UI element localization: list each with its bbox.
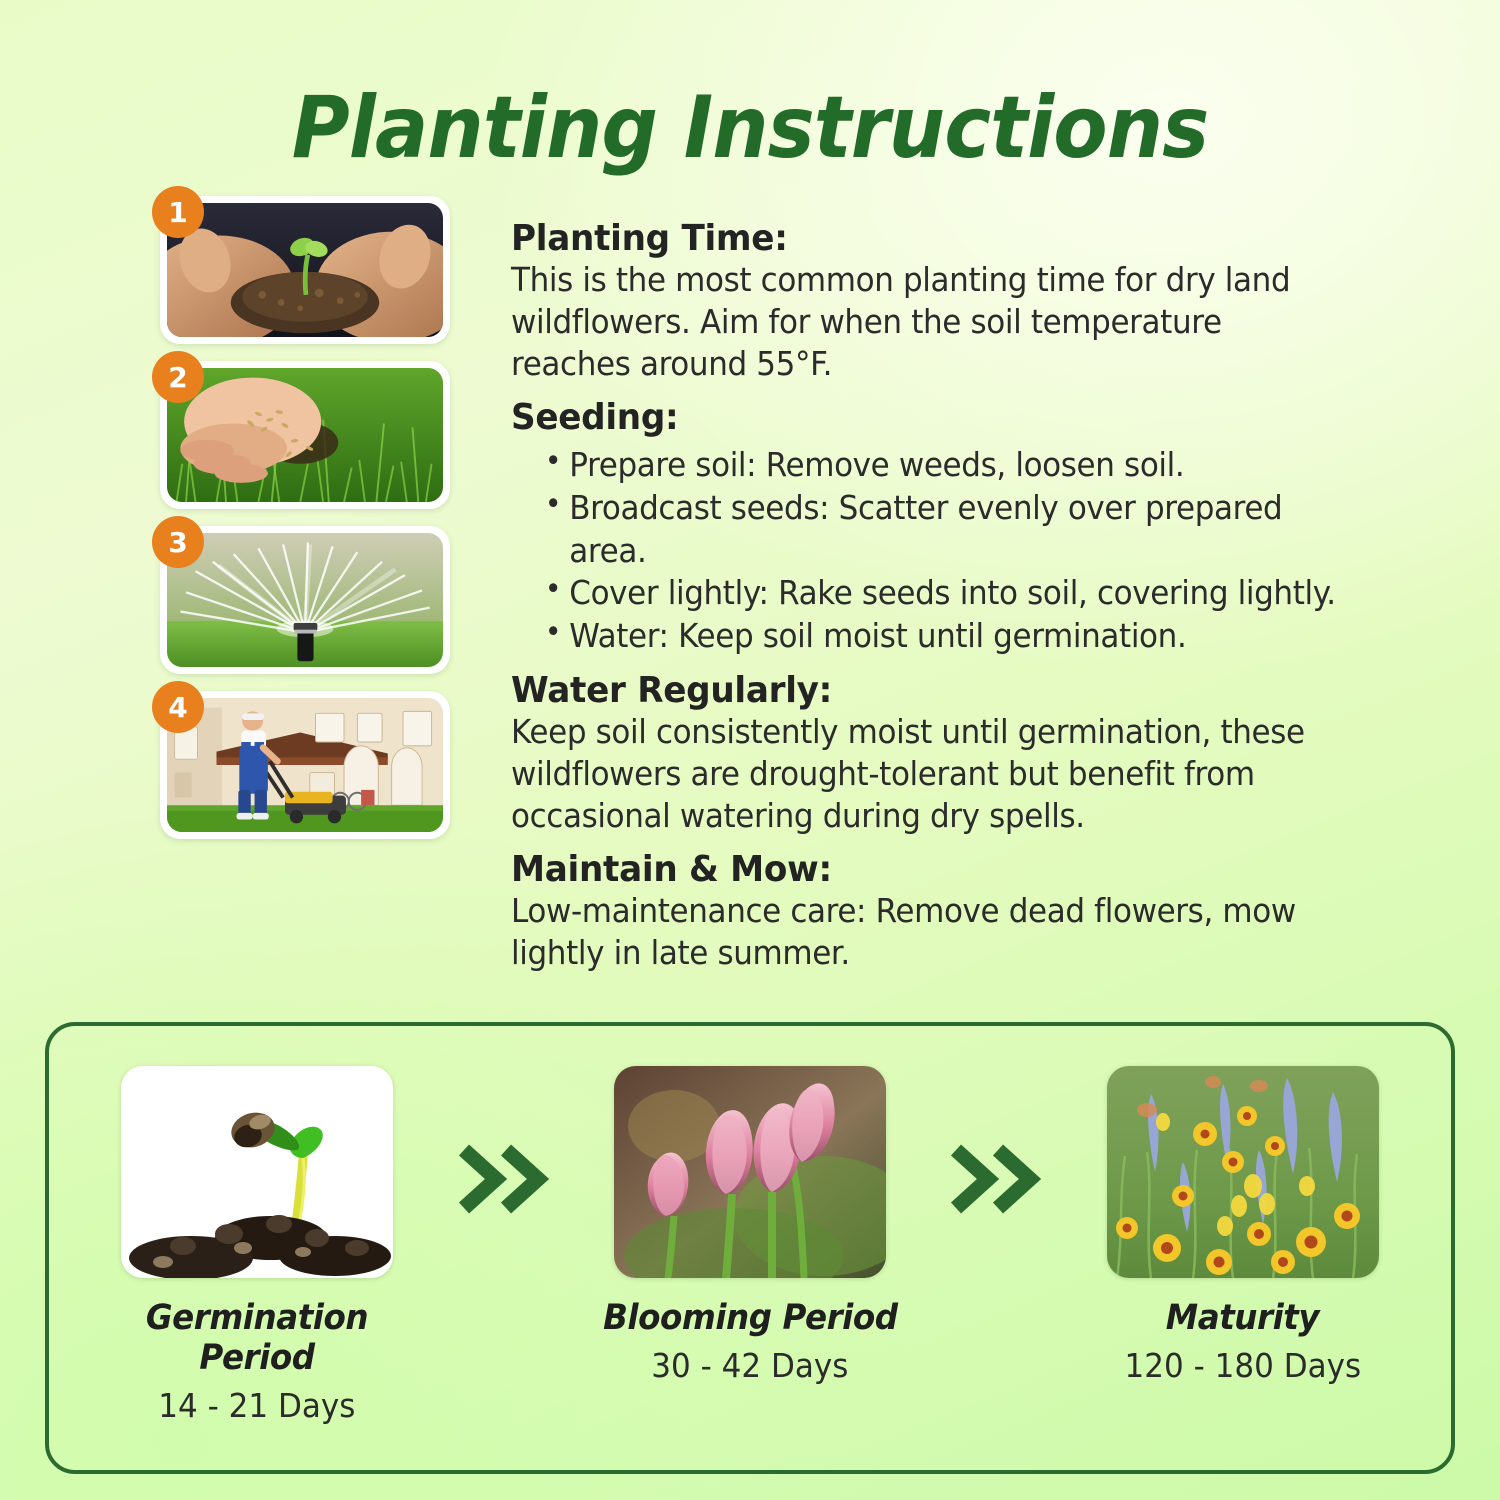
double-chevron-right-icon [941, 1066, 1051, 1214]
section-body: Keep soil consistently moist until germi… [511, 711, 1348, 837]
step-number-badge: 2 [152, 351, 204, 403]
list-item: Prepare soil: Remove weeds, loosen soil. [511, 444, 1348, 487]
double-chevron-right-icon [449, 1066, 559, 1214]
section-heading: Planting Time: [511, 218, 1357, 259]
step-number-badge: 4 [152, 681, 204, 733]
list-item: Broadcast seeds: Scatter evenly over pre… [511, 487, 1348, 573]
stage-title: Blooming Period [603, 1298, 898, 1338]
thumbnail-frame [160, 691, 450, 839]
page-title: Planting Instructions [60, 78, 1440, 178]
thumbnail-frame [160, 196, 450, 344]
section-planting-time: Planting Time: This is the most common p… [511, 218, 1401, 385]
step-card: 3 [160, 526, 450, 674]
step-number-badge: 3 [152, 516, 204, 568]
stage-duration: 14 - 21 Days [159, 1386, 356, 1425]
list-item: Cover lightly: Rake seeds into soil, cov… [511, 572, 1348, 615]
section-heading: Maintain & Mow: [511, 849, 1357, 890]
section-heading: Seeding: [511, 397, 1357, 438]
step-card: 2 [160, 361, 450, 509]
stage-duration: 120 - 180 Days [1124, 1346, 1361, 1385]
instructions-text-column: Planting Time: This is the most common p… [511, 218, 1401, 986]
sprouting-seed-photo [121, 1066, 393, 1278]
list-item: Water: Keep soil moist until germination… [511, 615, 1348, 658]
stage-duration: 30 - 42 Days [651, 1346, 848, 1385]
infographic-page: Planting Instructions 1 [0, 0, 1500, 1500]
section-heading: Water Regularly: [511, 670, 1357, 711]
man-mowing-lawn-photo [167, 698, 443, 832]
timeline-row: Germination Period 14 - 21 Days [49, 1026, 1451, 1470]
step-card: 4 [160, 691, 450, 839]
stage-title: Germination Period [104, 1298, 411, 1378]
wildflower-meadow-photo [1107, 1066, 1379, 1278]
section-body: This is the most common planting time fo… [511, 259, 1348, 385]
section-water-regularly: Water Regularly: Keep soil consistently … [511, 670, 1401, 837]
step-number-badge: 1 [152, 186, 204, 238]
step-thumbnail-column: 1 [160, 196, 460, 856]
lawn-sprinkler-watering-photo [167, 533, 443, 667]
timeline-stage-germination: Germination Period 14 - 21 Days [92, 1066, 422, 1425]
stage-title: Maturity [1166, 1298, 1319, 1338]
timeline-stage-maturity: Maturity 120 - 180 Days [1078, 1066, 1408, 1385]
timeline-stage-blooming: Blooming Period 30 - 42 Days [585, 1066, 915, 1385]
section-body: Low-maintenance care: Remove dead flower… [511, 890, 1348, 974]
section-seeding: Seeding: Prepare soil: Remove weeds, loo… [511, 397, 1401, 658]
seeding-bullet-list: Prepare soil: Remove weeds, loosen soil.… [511, 444, 1401, 658]
step-card: 1 [160, 196, 450, 344]
hands-holding-soil-seedling-photo [167, 203, 443, 337]
growth-timeline-panel: Germination Period 14 - 21 Days [45, 1022, 1455, 1474]
section-maintain-and-mow: Maintain & Mow: Low-maintenance care: Re… [511, 849, 1401, 974]
pink-lotus-buds-photo [614, 1066, 886, 1278]
thumbnail-frame [160, 361, 450, 509]
thumbnail-frame [160, 526, 450, 674]
hand-scattering-grass-seed-photo [167, 368, 443, 502]
